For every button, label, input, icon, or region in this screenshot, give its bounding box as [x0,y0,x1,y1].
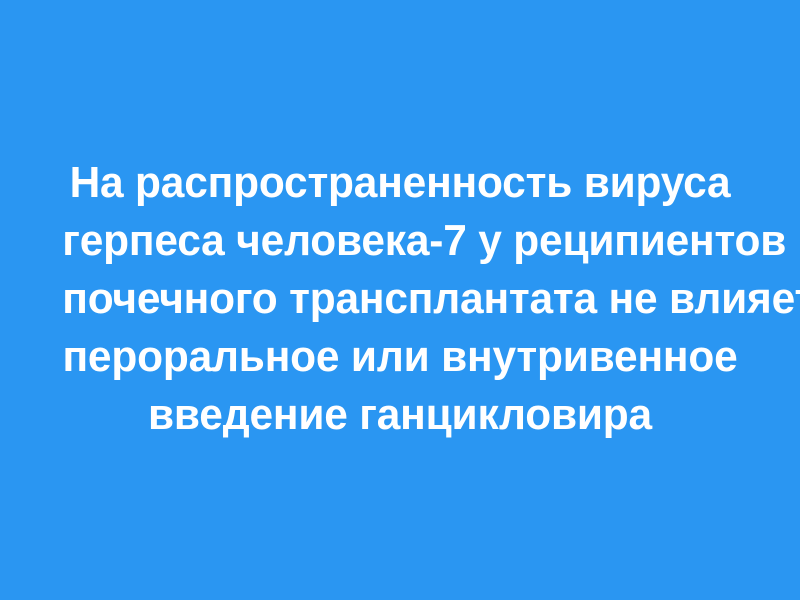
title-line-3: почечного трансплантата не влияет [62,270,738,328]
title-text-block: На распространенность вируса герпеса чел… [50,154,750,444]
title-line-2: герпеса человека-7 у реципиентов [62,212,738,270]
title-line-4: пероральное или внутривенное [62,328,738,386]
slide-canvas: На распространенность вируса герпеса чел… [0,0,800,600]
title-line-5: введение ганцикловира [62,386,738,444]
title-line-1: На распространенность вируса [62,154,738,212]
